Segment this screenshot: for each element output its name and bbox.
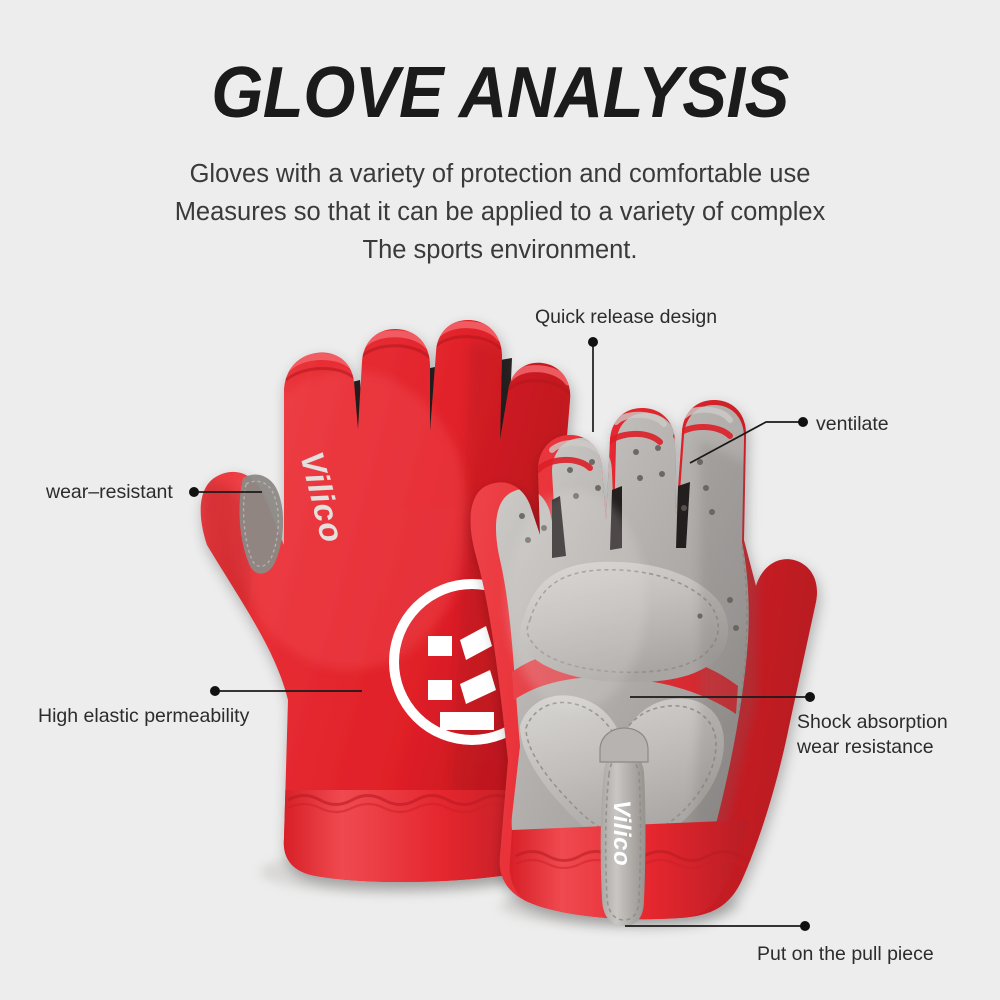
callout-high-elastic-permeability: High elastic permeability [38, 704, 249, 729]
subtitle-line-2: Measures so that it can be applied to a … [0, 193, 1000, 231]
callout-shock-absorption-line-2: wear resistance [797, 735, 977, 760]
palm-highlight [506, 490, 646, 710]
infographic-canvas: Vilico [0, 0, 1000, 1000]
callout-shock-absorption: Shock absorption wear resistance [797, 710, 977, 760]
subtitle-line-3: The sports environment. [0, 231, 1000, 269]
pull-tab: Vilico [600, 728, 648, 926]
callout-ventilate: ventilate [816, 412, 889, 437]
page-subtitle: Gloves with a variety of protection and … [0, 155, 1000, 269]
brand-text-pull-tab: Vilico [608, 800, 635, 866]
callout-put-on-the-pull-piece: Put on the pull piece [757, 942, 934, 967]
callout-quick-release-design: Quick release design [535, 305, 717, 330]
callout-shock-absorption-line-1: Shock absorption [797, 710, 977, 735]
page-title: GLOVE ANALYSIS [35, 52, 965, 134]
callout-wear-resistant: wear–resistant [46, 480, 173, 505]
subtitle-line-1: Gloves with a variety of protection and … [0, 155, 1000, 193]
